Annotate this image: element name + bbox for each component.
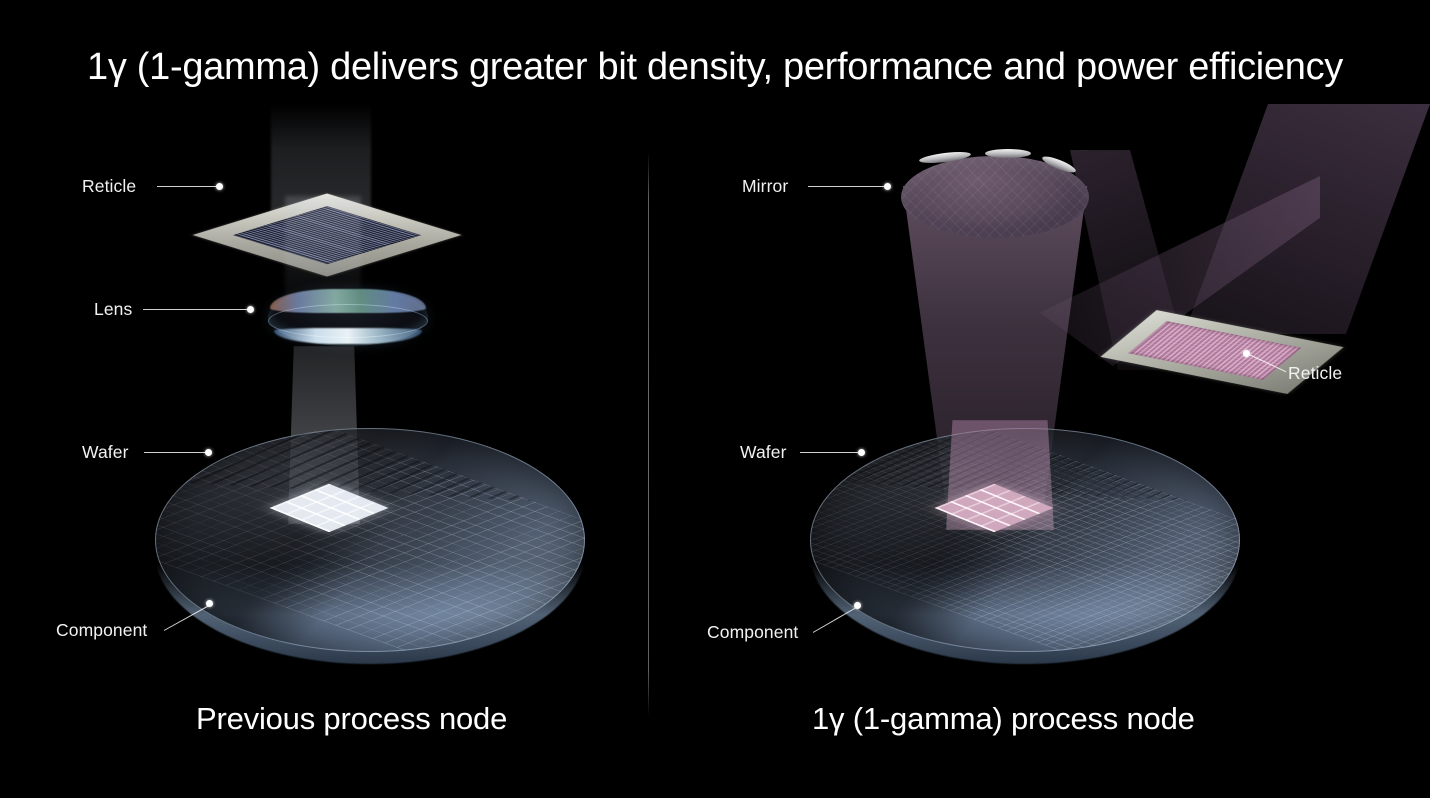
mirror-clip-2	[985, 149, 1031, 158]
page-title: 1γ (1-gamma) delivers greater bit densit…	[0, 46, 1430, 89]
callout-label-reticle-left: Reticle	[82, 176, 136, 197]
callout-label-component-left: Component	[56, 620, 147, 641]
leader-line-lens	[143, 309, 250, 310]
lens-rim-highlight-top	[270, 289, 426, 313]
leader-dot-lens	[247, 306, 254, 313]
leader-line-wafer-right	[800, 452, 860, 453]
slide-canvas: 1γ (1-gamma) delivers greater bit densit…	[0, 0, 1430, 798]
callout-label-lens: Lens	[94, 299, 132, 320]
leader-line-wafer-left	[144, 452, 208, 453]
leader-line-reticle-left	[157, 186, 219, 187]
leader-dot-reticle-left	[216, 183, 223, 190]
caption-one-gamma-process-node: 1γ (1-gamma) process node	[812, 701, 1195, 737]
callout-label-reticle-right: Reticle	[1288, 363, 1342, 384]
leader-dot-reticle-right	[1243, 350, 1250, 357]
callout-label-mirror: Mirror	[742, 176, 788, 197]
lens-rim-highlight-bottom	[274, 328, 422, 344]
wafer-rim-left	[155, 428, 585, 652]
panel-divider	[648, 154, 649, 714]
leader-dot-component-left	[206, 600, 213, 607]
caption-previous-process-node: Previous process node	[196, 701, 507, 737]
leader-line-mirror	[808, 186, 886, 187]
leader-dot-component-right	[854, 602, 861, 609]
leader-dot-wafer-right	[858, 449, 865, 456]
leader-dot-mirror	[884, 183, 891, 190]
lens-element	[268, 288, 428, 346]
wafer-left	[155, 428, 585, 652]
mirror-element	[901, 148, 1089, 244]
callout-label-wafer-right: Wafer	[740, 442, 787, 463]
leader-dot-wafer-left	[205, 449, 212, 456]
callout-label-wafer-left: Wafer	[82, 442, 129, 463]
callout-label-component-right: Component	[707, 622, 798, 643]
